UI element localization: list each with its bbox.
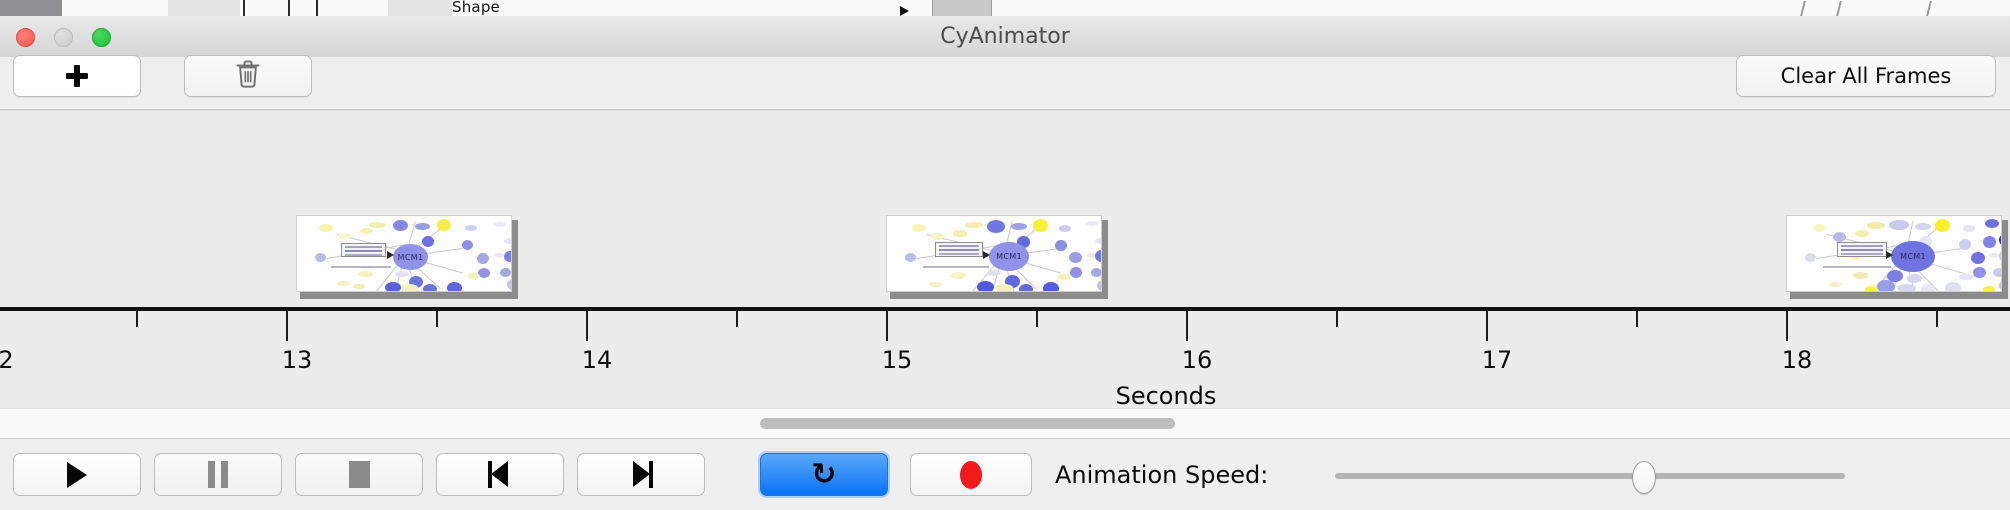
- axis-tick-label: 18: [1782, 346, 1813, 374]
- axis-title: Seconds: [1116, 382, 1217, 408]
- axis-tick-minor: [136, 311, 138, 327]
- frame-hub-node: MCM1: [393, 244, 428, 270]
- background-tick: [243, 0, 245, 16]
- scrollbar-thumb[interactable]: [760, 418, 1175, 429]
- axis-tick-minor: [1936, 311, 1938, 327]
- add-frame-button[interactable]: [13, 55, 141, 97]
- background-tick: [288, 0, 290, 16]
- skip-to-start-button[interactable]: [436, 453, 564, 496]
- axis-tick-major: [1186, 311, 1188, 341]
- background-shape-label: Shape: [452, 0, 500, 16]
- pause-icon: [208, 461, 228, 488]
- skip-previous-icon: [488, 461, 512, 488]
- record-button[interactable]: [910, 453, 1032, 496]
- axis-tick-major: [586, 311, 588, 341]
- axis-tick-major: [286, 311, 288, 341]
- axis-tick-label: 13: [282, 346, 313, 374]
- axis-tick-minor: [1036, 311, 1038, 327]
- playback-toolbar: ↻ Animation Speed:: [0, 438, 2010, 510]
- axis-tick-label: 2: [0, 346, 14, 374]
- loop-icon: ↻: [811, 460, 836, 490]
- axis-tick-label: 17: [1482, 346, 1513, 374]
- axis-tick-label: 16: [1182, 346, 1213, 374]
- axis-tick-minor: [1636, 311, 1638, 327]
- animation-speed-label: Animation Speed:: [1055, 461, 1268, 489]
- background-slash-icon: [1836, 1, 1842, 16]
- timeline-axis: [0, 307, 2010, 311]
- animation-speed-slider-track[interactable]: [1335, 473, 1845, 479]
- frame-hub-node: MCM1: [989, 242, 1029, 271]
- skip-next-icon: [629, 461, 653, 488]
- timeline-scrollbar[interactable]: [0, 408, 2010, 439]
- frame-hub-node: MCM1: [1891, 241, 1935, 272]
- pause-button[interactable]: [154, 453, 282, 496]
- background-tick: [316, 0, 318, 16]
- background-toolbar-blob: [388, 0, 452, 16]
- axis-tick-minor: [736, 311, 738, 327]
- background-tab: [0, 0, 62, 16]
- background-slash-icon: [1926, 1, 1932, 16]
- clear-all-frames-button[interactable]: Clear All Frames: [1736, 55, 1996, 97]
- axis-tick-minor: [1336, 311, 1338, 327]
- window-title: CyAnimator: [0, 16, 2010, 57]
- axis-tick-label: 15: [882, 346, 913, 374]
- frame-network-preview: MCM1: [1786, 215, 2002, 292]
- frame-network-preview: MCM1: [886, 215, 1102, 292]
- record-icon: [960, 461, 982, 489]
- background-toolbar-blob: [168, 0, 240, 16]
- axis-tick-minor: [436, 311, 438, 327]
- frame-thumbnail[interactable]: MCM1: [296, 215, 518, 299]
- timeline-divider: [0, 110, 2010, 111]
- delete-frame-button[interactable]: [184, 55, 312, 97]
- axis-tick-major: [1486, 311, 1488, 341]
- background-slash-icon: [1800, 1, 1806, 16]
- stop-icon: [349, 461, 370, 488]
- axis-tick-label: 14: [582, 346, 613, 374]
- background-cursor-arrow-icon: [900, 6, 909, 16]
- background-window-strip: Shape: [0, 0, 2010, 17]
- cyanimator-window: Shape CyAnimator Clear All Frames: [0, 0, 2010, 510]
- plus-icon: [66, 65, 88, 87]
- axis-tick-major: [1786, 311, 1788, 341]
- trash-icon: [235, 59, 261, 93]
- frame-network-preview: MCM1: [296, 215, 512, 292]
- animation-speed-slider-knob[interactable]: [1632, 461, 1656, 494]
- frame-thumbnail[interactable]: MCM1: [886, 215, 1108, 299]
- timeline-panel[interactable]: MCM1: [0, 110, 2010, 408]
- titlebar: CyAnimator: [0, 16, 2010, 58]
- stop-button[interactable]: [295, 453, 423, 496]
- play-icon: [67, 462, 87, 488]
- frame-thumbnail[interactable]: MCM1: [1786, 215, 2008, 299]
- background-slot: [932, 0, 992, 16]
- loop-button[interactable]: ↻: [760, 453, 888, 496]
- clear-all-frames-label: Clear All Frames: [1781, 64, 1952, 88]
- play-button[interactable]: [13, 453, 141, 496]
- skip-to-end-button[interactable]: [577, 453, 705, 496]
- axis-tick-major: [886, 311, 888, 341]
